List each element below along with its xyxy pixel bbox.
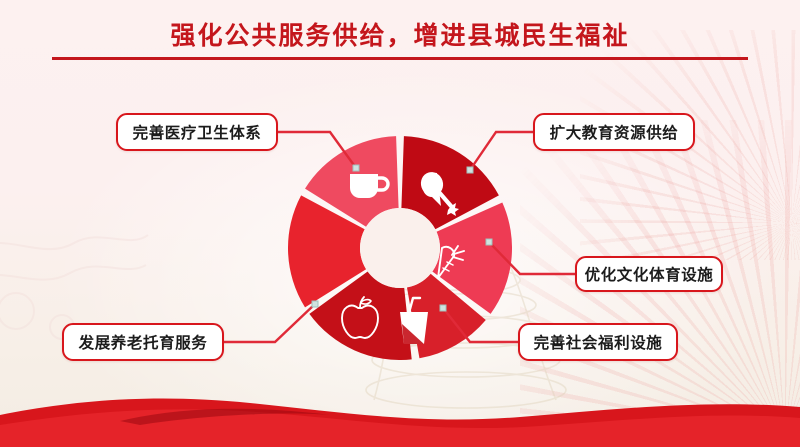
title-underline — [52, 57, 748, 60]
donut-hub — [360, 208, 440, 288]
callout-text-education: 扩大教育资源供给 — [550, 121, 679, 143]
callout-label-culture[interactable]: 优化文化体育设施 — [575, 256, 723, 292]
callout-text-welfare: 完善社会福利设施 — [534, 331, 663, 353]
slide-canvas: 强化公共服务供给，增进县城民生福祉 — [0, 0, 800, 447]
callout-text-elderly: 发展养老托育服务 — [79, 331, 208, 353]
callout-label-elderly[interactable]: 发展养老托育服务 — [62, 323, 224, 361]
donut-chart — [288, 136, 512, 360]
page-title: 强化公共服务供给，增进县城民生福祉 — [0, 16, 800, 52]
callout-label-medical[interactable]: 完善医疗卫生体系 — [116, 113, 278, 151]
bottom-ribbon — [0, 381, 800, 447]
callout-text-culture: 优化文化体育设施 — [585, 263, 714, 285]
callout-text-medical: 完善医疗卫生体系 — [133, 121, 262, 143]
callout-label-welfare[interactable]: 完善社会福利设施 — [518, 323, 678, 361]
callout-label-education[interactable]: 扩大教育资源供给 — [533, 113, 695, 151]
